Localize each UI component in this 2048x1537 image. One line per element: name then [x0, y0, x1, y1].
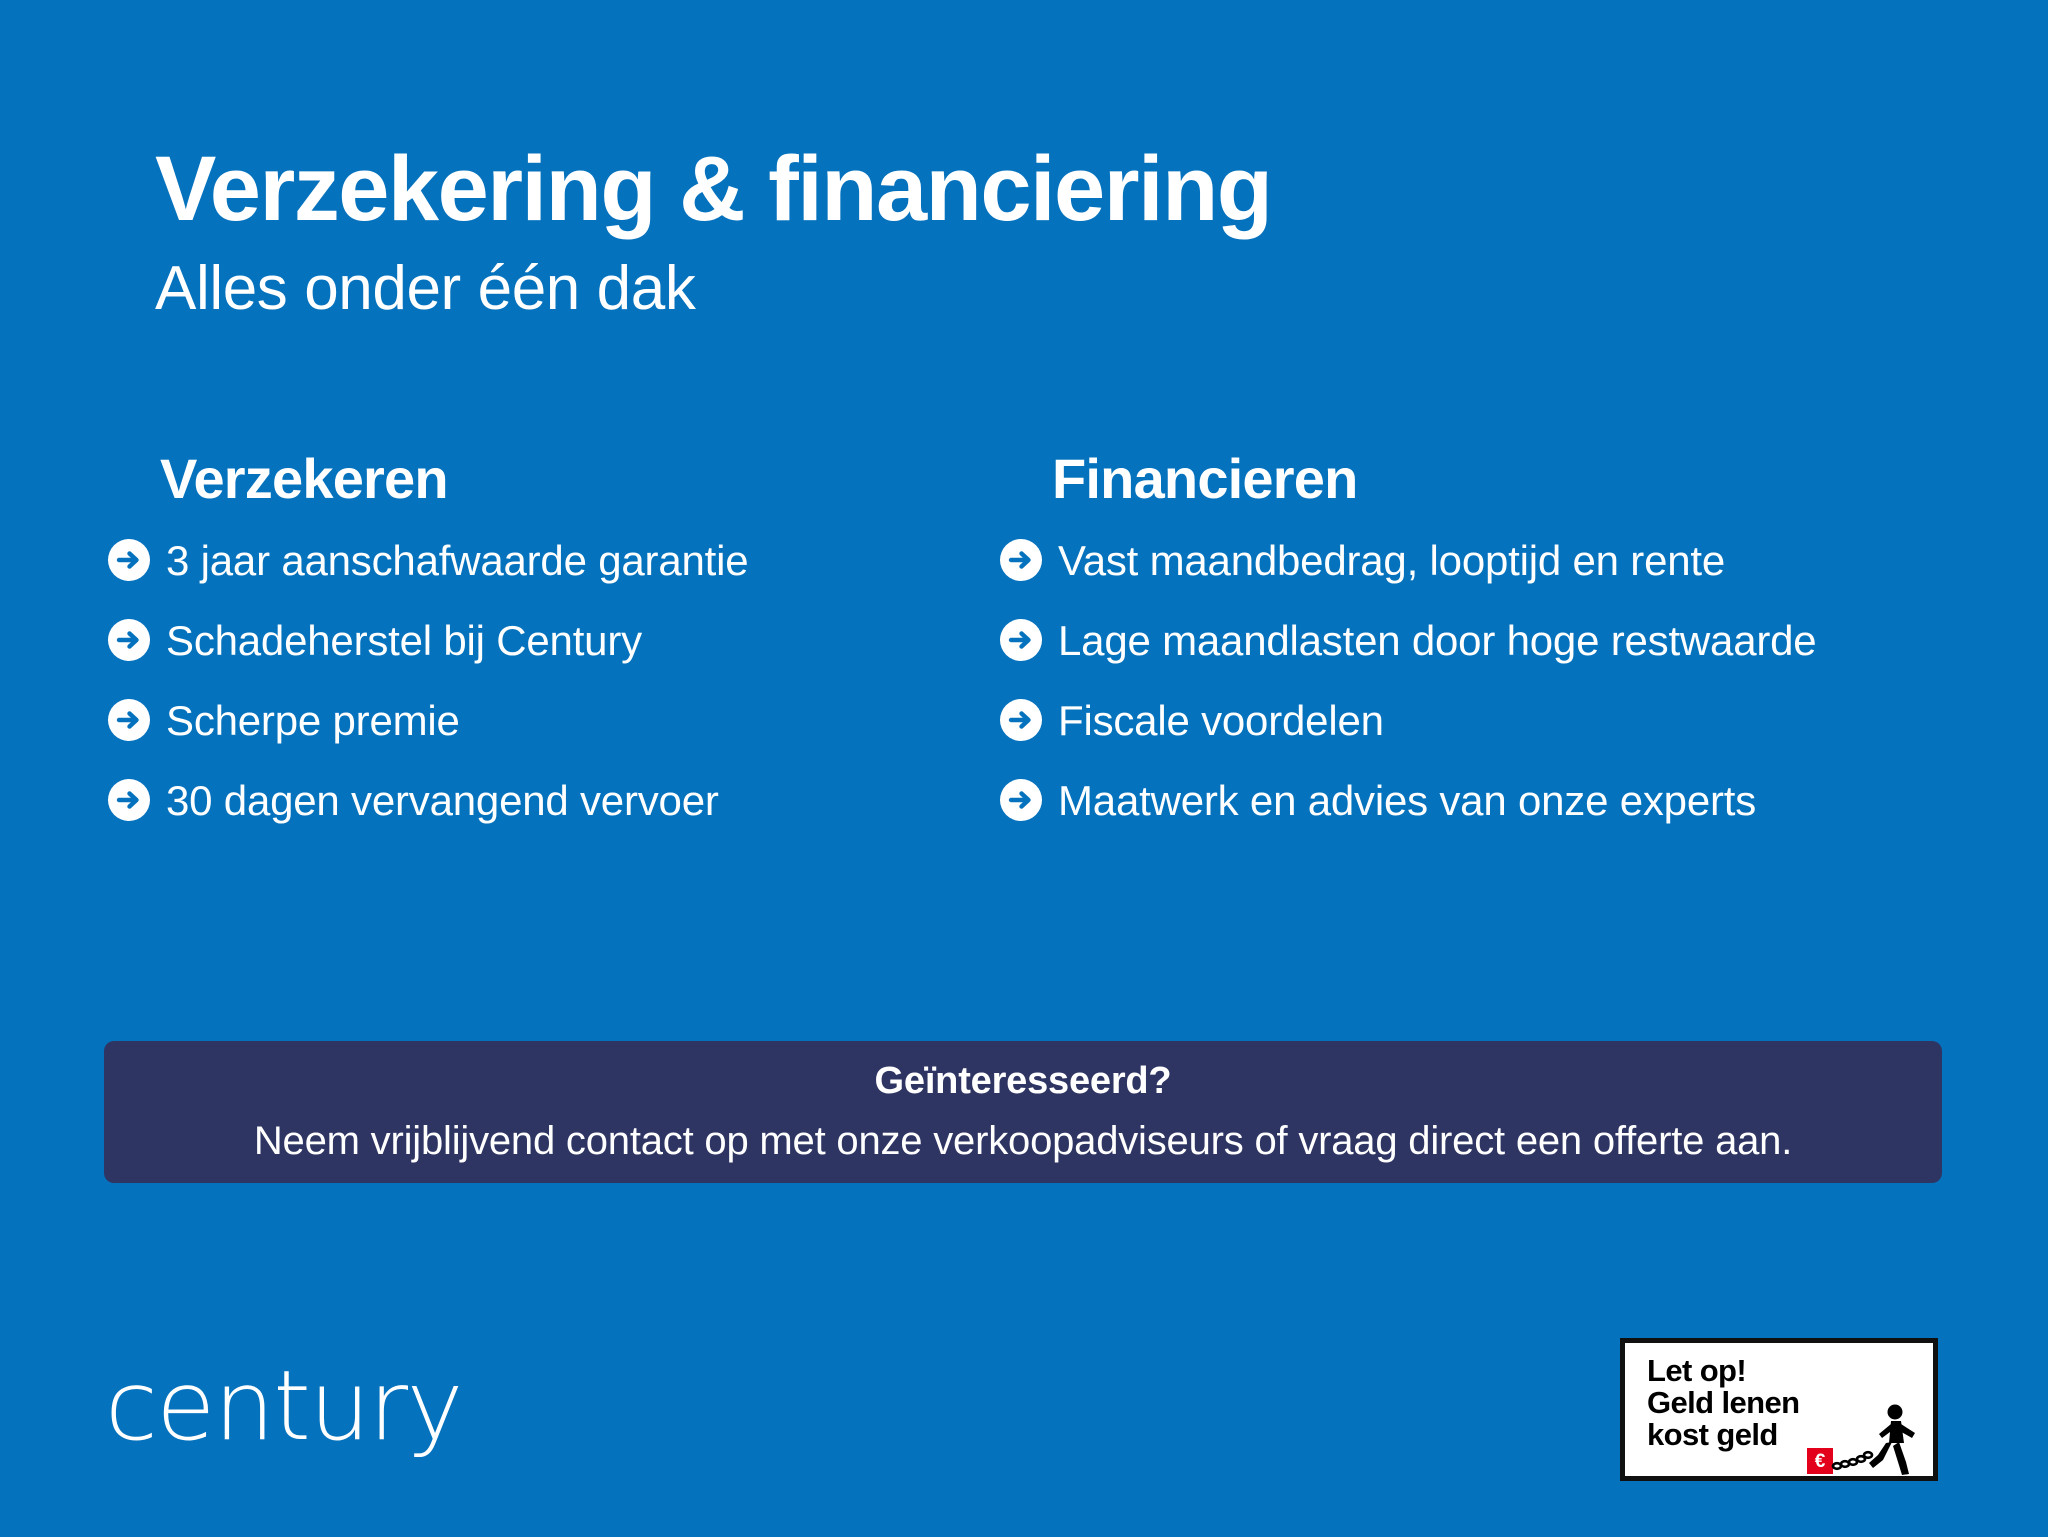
column-verzekeren: Verzekeren 3 jaar aanschafwaarde garanti… — [108, 450, 968, 824]
section-heading-verzekeren: Verzekeren — [108, 450, 968, 509]
list-item-label: 30 dagen vervangend vervoer — [166, 777, 719, 824]
arrow-right-circle-icon — [108, 779, 150, 821]
slide-root: Verzekering & financiering Alles onder é… — [0, 0, 2048, 1537]
list-item-label: Schadeherstel bij Century — [166, 617, 642, 664]
list-item: Maatwerk en advies van onze experts — [1000, 777, 2000, 824]
list-item-label: Vast maandbedrag, looptijd en rente — [1058, 537, 1725, 584]
arrow-right-circle-icon — [108, 539, 150, 581]
arrow-right-circle-icon — [1000, 779, 1042, 821]
loan-warning-line-1: Let op! — [1647, 1355, 1933, 1387]
cta-banner[interactable]: Geïnteresseerd? Neem vrijblijvend contac… — [104, 1041, 1942, 1183]
list-item-label: Fiscale voordelen — [1058, 697, 1384, 744]
feature-list-financieren: Vast maandbedrag, looptijd en rente Lage… — [1000, 537, 2000, 824]
loan-warning-inner: Let op! Geld lenen kost geld € — [1647, 1355, 1933, 1476]
arrow-right-circle-icon — [1000, 699, 1042, 741]
walking-person-with-euro-ball-and-chain-icon: € — [1805, 1402, 1925, 1480]
section-heading-financieren: Financieren — [1000, 450, 2000, 509]
arrow-right-circle-icon — [108, 699, 150, 741]
list-item: Vast maandbedrag, looptijd en rente — [1000, 537, 2000, 584]
page-subtitle: Alles onder één dak — [155, 253, 1855, 324]
century-logo: century — [105, 1358, 462, 1454]
svg-text:€: € — [1815, 1451, 1826, 1472]
list-item: Fiscale voordelen — [1000, 697, 2000, 744]
list-item: Lage maandlasten door hoge restwaarde — [1000, 617, 2000, 664]
column-financieren: Financieren Vast maandbedrag, looptijd e… — [1000, 450, 2000, 824]
list-item: 3 jaar aanschafwaarde garantie — [108, 537, 968, 584]
arrow-right-circle-icon — [1000, 619, 1042, 661]
header: Verzekering & financiering Alles onder é… — [155, 140, 1855, 325]
list-item-label: 3 jaar aanschafwaarde garantie — [166, 537, 748, 584]
arrow-right-circle-icon — [108, 619, 150, 661]
loan-warning-box: Let op! Geld lenen kost geld € — [1620, 1338, 1938, 1481]
cta-title: Geïnteresseerd? — [875, 1059, 1172, 1105]
list-item: Scherpe premie — [108, 697, 968, 744]
feature-list-verzekeren: 3 jaar aanschafwaarde garantie Schadeher… — [108, 537, 968, 824]
list-item-label: Scherpe premie — [166, 697, 460, 744]
list-item-label: Maatwerk en advies van onze experts — [1058, 777, 1756, 824]
list-item: Schadeherstel bij Century — [108, 617, 968, 664]
arrow-right-circle-icon — [1000, 539, 1042, 581]
page-title: Verzekering & financiering — [155, 140, 1855, 239]
list-item-label: Lage maandlasten door hoge restwaarde — [1058, 617, 1816, 664]
cta-body: Neem vrijblijvend contact op met onze ve… — [254, 1117, 1792, 1165]
list-item: 30 dagen vervangend vervoer — [108, 777, 968, 824]
